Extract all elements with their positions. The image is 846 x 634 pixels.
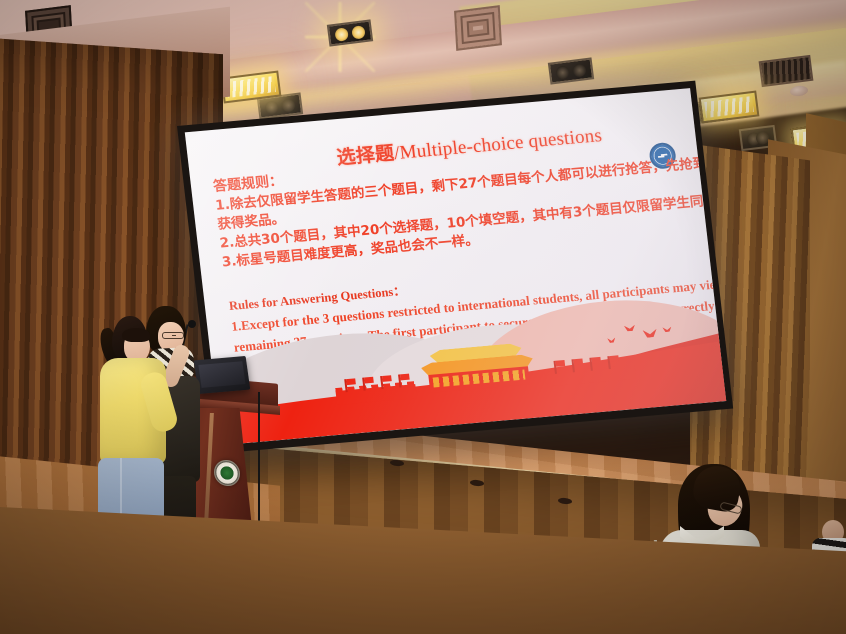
auditorium-photo: 选择题/Multiple-choice questions 答题规则： 1.除去… — [0, 0, 846, 634]
bangs — [122, 328, 150, 342]
ceiling-air-vent — [454, 5, 502, 51]
slide-chinese-block: 答题规则： 1.除去仅限留学生答题的三个题目，剩下27个题目每个人都可以进行抢答… — [212, 137, 691, 273]
